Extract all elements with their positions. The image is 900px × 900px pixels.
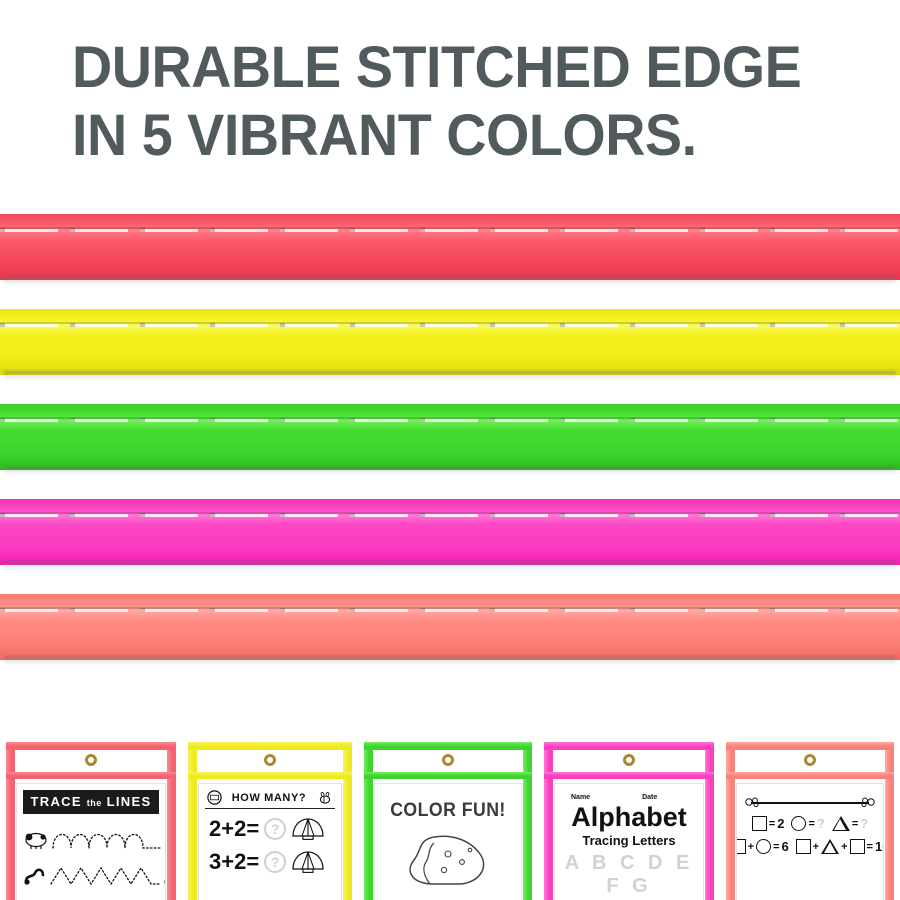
- trace-row-zigzag: [23, 858, 159, 892]
- stamp-icon: [207, 790, 222, 805]
- pocket-alphabet-tracing[interactable]: NameDateAlphabetTracing LettersA B C D E…: [538, 735, 720, 900]
- color-bar-green: [0, 404, 900, 499]
- worksheet-title: Alphabet: [561, 802, 697, 832]
- square-shape-icon: [752, 816, 767, 831]
- bar-shadow: [4, 466, 896, 477]
- color-bar-swatches: [0, 214, 900, 689]
- pocket-right-edge: [343, 742, 352, 900]
- color-bar-coral: [0, 594, 900, 689]
- pocket-mid-rail: [6, 772, 176, 779]
- bar-shadow: [4, 561, 896, 572]
- plus-sign: +: [748, 841, 754, 853]
- banner-word-the: the: [87, 798, 102, 808]
- pocket-mid-rail: [726, 772, 894, 779]
- circle-shape-icon: [791, 816, 806, 831]
- bar-shadow: [4, 371, 896, 382]
- bar-body: [0, 499, 900, 565]
- pocket-left-edge: [6, 742, 15, 900]
- stitch-perforations: [0, 228, 900, 232]
- pocket-mid-rail: [364, 772, 532, 779]
- worksheet-subtitle: Tracing Letters: [561, 833, 697, 848]
- stitch-perforations: [0, 323, 900, 327]
- equation-text: 2+2=: [209, 816, 259, 842]
- dotted-zigzag-path: [49, 864, 161, 886]
- equals-sign: =: [773, 841, 779, 853]
- shell-icon: [291, 817, 325, 841]
- stitch-perforations: [0, 513, 900, 517]
- grommet-icon: [85, 754, 97, 766]
- grommet-icon: [442, 754, 454, 766]
- answer-placeholder: ?: [264, 851, 286, 873]
- worksheet-card[interactable]: NameDateAlphabetTracing LettersA B C D E…: [554, 783, 704, 900]
- worksheet-card[interactable]: HOW MANY?2+2=?3+2=?: [198, 783, 342, 900]
- pocket-left-edge: [726, 742, 735, 900]
- pocket-top-rail: [364, 742, 532, 750]
- bar-body: [0, 404, 900, 470]
- snake-icon: [163, 865, 166, 885]
- shape-equation-value: ?: [860, 816, 868, 831]
- shape-equation-value: 10: [875, 839, 884, 854]
- color-bar-magenta: [0, 499, 900, 594]
- sheep-icon: [165, 829, 166, 849]
- shell-icon: [291, 850, 325, 874]
- equals-sign: =: [867, 841, 873, 853]
- equals-sign: =: [769, 818, 775, 830]
- shape-equation: =2: [752, 816, 785, 831]
- shape-row-2: +=6++=10: [743, 839, 877, 854]
- plus-sign: +: [841, 841, 847, 853]
- bar-body: [0, 309, 900, 375]
- date-field-label: Date: [642, 794, 657, 801]
- grommet-icon: [264, 754, 276, 766]
- pocket-right-edge: [705, 742, 714, 900]
- worksheet-title: COLOR FUN!: [386, 800, 511, 822]
- worksheet-card[interactable]: TRACE the LINES: [16, 783, 166, 900]
- pocket-left-edge: [544, 742, 553, 900]
- shape-equation-value: ?: [817, 816, 825, 831]
- coloring-blob-shape: [400, 832, 496, 886]
- equals-sign: =: [852, 818, 858, 830]
- banner-word-trace: TRACE: [31, 794, 82, 809]
- worksheet-card[interactable]: COLOR FUN!: [374, 783, 522, 900]
- square-shape-icon: [796, 839, 811, 854]
- pocket-right-edge: [167, 742, 176, 900]
- shape-row-1: =2=?=?: [743, 816, 877, 831]
- dry-erase-pocket-row: TRACE the LINESHOW MANY?2+2=?3+2=?COLOR …: [0, 735, 900, 900]
- pocket-shape-math[interactable]: =2=?=?+=6++=10: [720, 735, 900, 900]
- pocket-right-edge: [523, 742, 532, 900]
- equation-row: 2+2=?: [205, 816, 335, 842]
- pocket-top-rail: [6, 742, 176, 750]
- shape-equation: =?: [791, 816, 824, 831]
- answer-placeholder: ?: [264, 818, 286, 840]
- worksheet-divider: [743, 796, 877, 808]
- grommet-icon: [804, 754, 816, 766]
- plus-sign: +: [813, 841, 819, 853]
- dotted-loop-path: [51, 826, 163, 852]
- stitch-perforations: [0, 608, 900, 612]
- bar-shadow: [4, 276, 896, 287]
- worksheet-banner: TRACE the LINES: [23, 790, 159, 814]
- pocket-mid-rail: [188, 772, 352, 779]
- coloring-artwork: [381, 832, 515, 886]
- snake-icon: [23, 865, 47, 885]
- shape-equation-value: 2: [777, 816, 784, 831]
- pocket-top-rail: [726, 742, 894, 750]
- triangle-shape-icon: [821, 839, 839, 854]
- stitch-perforations: [0, 418, 900, 422]
- shape-equation: =?: [832, 816, 868, 831]
- pocket-top-rail: [188, 742, 352, 750]
- tracing-letters-row: A B C D E F G: [561, 852, 697, 898]
- headline-line-1: DURABLE STITCHED EDGE: [72, 34, 850, 102]
- color-bar-red: [0, 214, 900, 309]
- headline-line-2: IN 5 VIBRANT COLORS.: [72, 102, 850, 170]
- banner-word-lines: LINES: [107, 794, 152, 809]
- shape-equation: +=6: [736, 839, 789, 854]
- name-field-label: Name: [571, 794, 590, 801]
- bar-body: [0, 594, 900, 660]
- square-shape-icon: [736, 839, 746, 854]
- shape-equation: ++=10: [796, 839, 884, 854]
- sheep-icon: [23, 829, 49, 849]
- pocket-how-many[interactable]: HOW MANY?2+2=?3+2=?: [182, 735, 358, 900]
- grommet-icon: [623, 754, 635, 766]
- pocket-top-rail: [544, 742, 714, 750]
- pocket-left-edge: [188, 742, 197, 900]
- worksheet-card[interactable]: =2=?=?+=6++=10: [736, 783, 884, 900]
- trace-row-loops: [23, 822, 159, 856]
- bar-body: [0, 214, 900, 280]
- equation-text: 3+2=: [209, 849, 259, 875]
- bee-icon: [316, 790, 333, 805]
- worksheet-header: HOW MANY?: [205, 790, 335, 809]
- square-shape-icon: [850, 839, 865, 854]
- pocket-color-fun[interactable]: COLOR FUN!: [358, 735, 538, 900]
- equals-sign: =: [808, 818, 814, 830]
- triangle-shape-icon: [832, 816, 850, 831]
- circle-shape-icon: [756, 839, 771, 854]
- pocket-left-edge: [364, 742, 373, 900]
- worksheet-field-labels: NameDate: [561, 794, 697, 801]
- color-bar-yellow: [0, 309, 900, 404]
- shape-equation-value: 6: [781, 839, 788, 854]
- pocket-mid-rail: [544, 772, 714, 779]
- equation-row: 3+2=?: [205, 849, 335, 875]
- bar-shadow: [4, 656, 896, 667]
- worksheet-title: HOW MANY?: [232, 792, 306, 804]
- pocket-trace-the-lines[interactable]: TRACE the LINES: [0, 735, 182, 900]
- pocket-right-edge: [885, 742, 894, 900]
- product-marketing-image: DURABLE STITCHED EDGE IN 5 VIBRANT COLOR…: [0, 0, 900, 900]
- page-title: DURABLE STITCHED EDGE IN 5 VIBRANT COLOR…: [72, 34, 882, 170]
